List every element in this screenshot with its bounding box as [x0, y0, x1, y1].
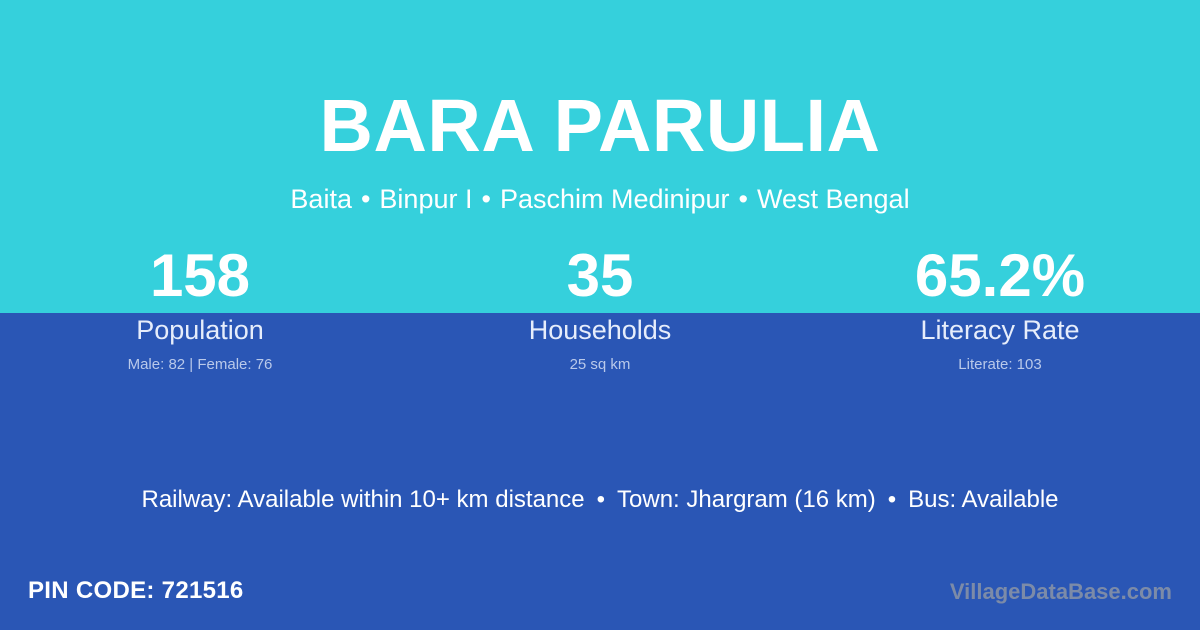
breadcrumb-item-block: Baita [290, 184, 352, 214]
breadcrumb-separator-icon: • [730, 182, 757, 216]
stat-households: 35 Households 25 sq km [400, 240, 800, 375]
infrastructure-separator-icon: • [585, 484, 617, 516]
stat-subtext: Literate: 103 [800, 346, 1200, 375]
page-title: BARA PARULIA [0, 0, 1200, 168]
village-info-card: BARA PARULIA Baita•Binpur I•Paschim Medi… [0, 0, 1200, 630]
infrastructure-item-bus: Bus: Available [908, 486, 1058, 513]
stat-value: 65.2% [800, 240, 1200, 312]
stat-population: 158 Population Male: 82 | Female: 76 [0, 240, 400, 375]
stat-label: Literacy Rate [800, 312, 1200, 346]
infrastructure-item-railway: Railway: Available within 10+ km distanc… [141, 486, 584, 513]
stat-value: 158 [0, 240, 400, 312]
stat-subtext: Male: 82 | Female: 76 [0, 346, 400, 375]
stats-row: 158 Population Male: 82 | Female: 76 35 … [0, 240, 1200, 375]
stat-label: Households [400, 312, 800, 346]
card-footer: PIN CODE: 721516 VillageDataBase.com [0, 572, 1200, 630]
infrastructure-separator-icon: • [876, 484, 908, 516]
infrastructure-item-town: Town: Jhargram (16 km) [617, 486, 876, 513]
breadcrumb-separator-icon: • [352, 182, 379, 216]
breadcrumb-item-district: Paschim Medinipur [500, 184, 730, 214]
stat-value: 35 [400, 240, 800, 312]
stat-literacy-rate: 65.2% Literacy Rate Literate: 103 [800, 240, 1200, 375]
breadcrumb-item-state: West Bengal [757, 184, 910, 214]
stat-subtext: 25 sq km [400, 346, 800, 375]
infrastructure-line: Railway: Available within 10+ km distanc… [0, 484, 1200, 516]
breadcrumb-item-subdistrict: Binpur I [379, 184, 472, 214]
breadcrumb-separator-icon: • [472, 182, 499, 216]
breadcrumb: Baita•Binpur I•Paschim Medinipur•West Be… [0, 168, 1200, 216]
stat-label: Population [0, 312, 400, 346]
pin-code: PIN CODE: 721516 [28, 576, 244, 606]
card-header: BARA PARULIA Baita•Binpur I•Paschim Medi… [0, 0, 1200, 216]
site-branding: VillageDataBase.com [950, 578, 1172, 606]
